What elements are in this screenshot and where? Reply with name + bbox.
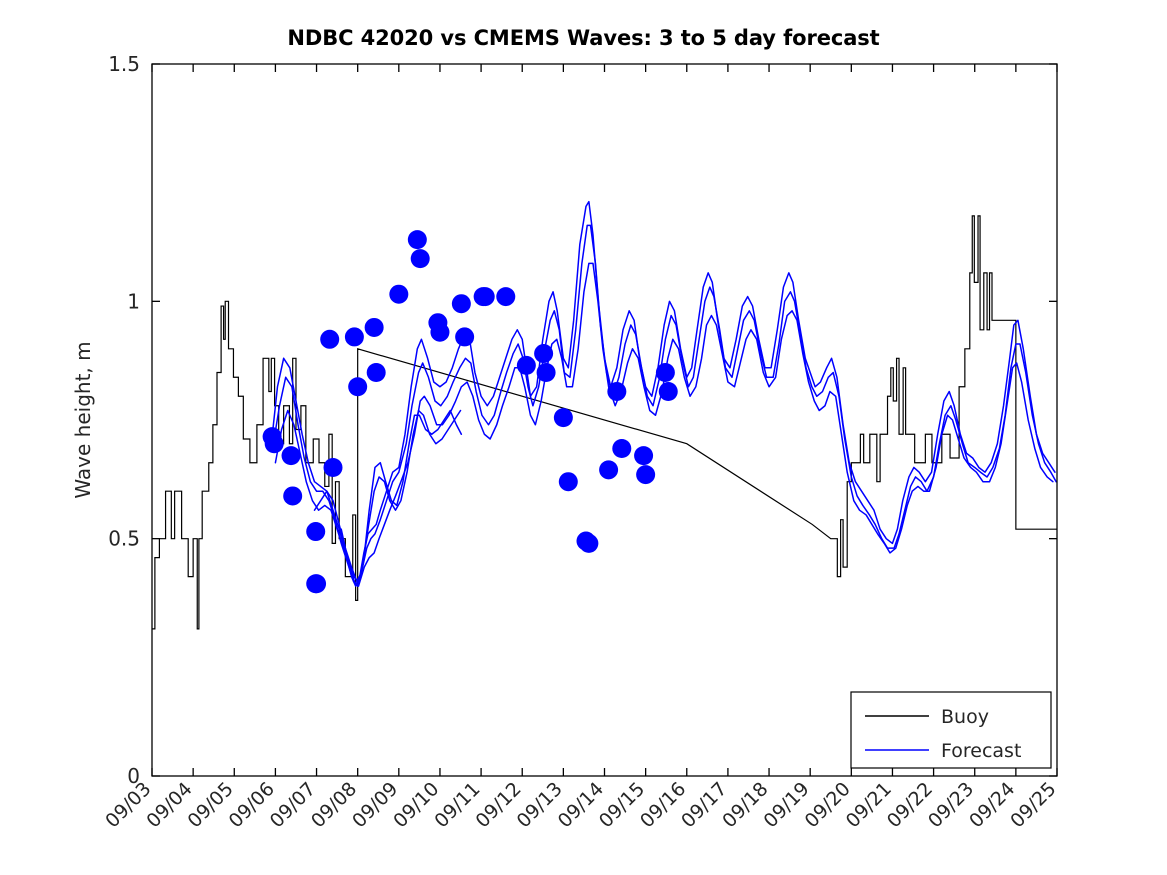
x-tick-label: 09/10 [389,778,443,832]
forecast-marker [265,434,284,453]
y-tick-label: 1 [127,289,140,313]
forecast-marker [455,327,474,346]
forecast-marker [656,363,675,382]
forecast-marker [452,294,471,313]
x-tick-label: 09/11 [430,778,484,832]
forecast-marker [579,534,598,553]
chart-plot-area: 00.511.509/0309/0409/0509/0609/0709/0809… [0,0,1167,875]
legend-label-buoy: Buoy [941,706,989,728]
forecast-marker [634,446,653,465]
forecast-marker [607,382,626,401]
forecast-marker [599,460,618,479]
chart-legend: BuoyForecast [851,692,1051,768]
forecast-marker [283,486,302,505]
x-tick-label: 09/25 [1006,778,1060,832]
forecast-marker [476,287,495,306]
forecast-marker [367,363,386,382]
forecast-marker [307,574,326,593]
forecast-marker [659,382,678,401]
x-tick-label: 09/12 [471,778,525,832]
forecast-marker [365,318,384,337]
chart-figure: NDBC 42020 vs CMEMS Waves: 3 to 5 day fo… [0,0,1167,875]
x-tick-label: 09/23 [924,778,978,832]
forecast-marker [537,363,556,382]
series-line-forecast [273,225,1056,586]
x-tick-label: 09/09 [348,778,402,832]
forecast-marker [408,230,427,249]
x-tick-label: 09/15 [595,778,649,832]
x-tick-label: 09/17 [677,778,731,832]
x-tick-label: 09/21 [842,778,896,832]
forecast-marker [320,330,339,349]
x-tick-label: 09/13 [513,778,567,832]
forecast-marker [534,344,553,363]
x-tick-label: 09/22 [883,778,937,832]
y-tick-label: 0.5 [108,527,140,551]
forecast-marker [554,408,573,427]
forecast-marker [636,465,655,484]
forecast-marker [345,327,364,346]
series-line-buoy [152,216,1057,629]
x-tick-label: 09/04 [142,778,196,832]
x-tick-label: 09/16 [636,778,690,832]
x-tick-label: 09/05 [184,778,238,832]
forecast-marker [282,446,301,465]
x-tick-label: 09/07 [266,778,320,832]
forecast-marker [324,458,343,477]
forecast-marker [496,287,515,306]
forecast-marker [389,285,408,304]
x-tick-label: 09/18 [718,778,772,832]
y-axis-label: Wave height, m [71,341,95,498]
forecast-marker [411,249,430,268]
x-tick-label: 09/20 [801,778,855,832]
x-tick-label: 09/14 [554,778,608,832]
x-tick-label: 09/19 [759,778,813,832]
plot-data-group [152,202,1057,629]
forecast-marker [306,522,325,541]
forecast-marker [559,472,578,491]
forecast-marker [348,377,367,396]
series-line-forecast [275,263,1052,586]
legend-label-forecast: Forecast [941,740,1021,762]
forecast-marker [517,356,536,375]
forecast-marker [430,323,449,342]
x-tick-label: 09/24 [965,778,1019,832]
forecast-marker [612,439,631,458]
x-tick-label: 09/06 [225,778,279,832]
x-tick-label: 09/08 [307,778,361,832]
y-tick-label: 1.5 [108,52,140,76]
